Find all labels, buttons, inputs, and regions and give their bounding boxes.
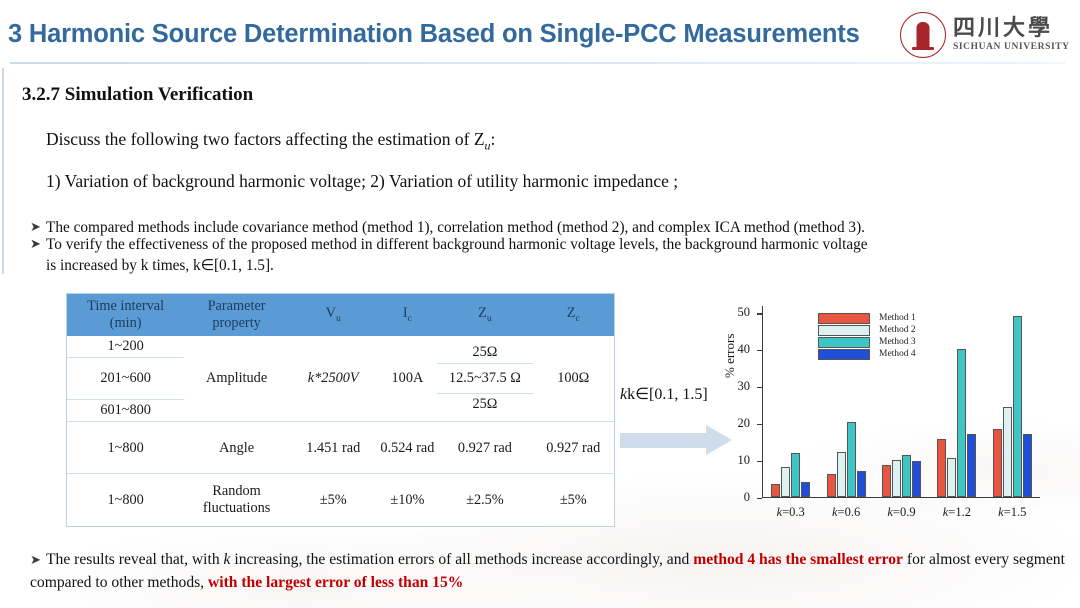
- bullet-2-text-line2: is increased by k times, k∈[0.1, 1.5].: [46, 256, 1065, 277]
- chart-y-tick-label: 50: [738, 305, 751, 320]
- bullet-1-text: The compared methods include covariance …: [46, 219, 865, 236]
- chart-y-tick: 40: [757, 350, 762, 351]
- chart-legend-item: Method 3: [818, 336, 916, 348]
- chart-bar: [1023, 434, 1032, 498]
- intro-text: Discuss the following two factors affect…: [46, 129, 485, 149]
- cell-property-angle: Angle: [184, 422, 289, 474]
- chart-legend-swatch: [818, 337, 870, 348]
- chart-y-tick: 50: [757, 313, 762, 314]
- chart-x-tick-label: k=0.6: [825, 505, 867, 520]
- conclusion-bullet: ➤The results reveal that, with k increas…: [30, 549, 1065, 594]
- chart-bar: [857, 471, 866, 497]
- th-ic: Ic: [378, 294, 438, 336]
- cell-time-intervals: 1~200 201~600 601~800: [67, 336, 184, 422]
- slide-canvas: 3 Harmonic Source Determination Based on…: [0, 0, 1080, 608]
- bullet-2-text: To verify the effectiveness of the propo…: [46, 236, 868, 253]
- chart-bar: [892, 460, 901, 497]
- chart-bar: [781, 467, 790, 497]
- chart-x-tick-label: k=1.5: [991, 505, 1033, 520]
- chart-legend-swatch: [818, 325, 870, 336]
- cell-ic-amplitude: 100A: [378, 336, 438, 422]
- table-row: 1~800 Random fluctuations ±5% ±10% ±2.5%…: [67, 474, 614, 526]
- cell-zu-angle: 0.927 rad: [437, 422, 532, 474]
- chart-bar: [837, 452, 846, 497]
- university-logo: 四川大學 SICHUAN UNIVERSITY: [900, 12, 1076, 58]
- zu-2: 12.5~37.5 Ω: [437, 364, 532, 394]
- chart-legend-swatch: [818, 313, 870, 324]
- chart-legend-label: Method 4: [879, 349, 916, 359]
- section-heading: 3.2.7 Simulation Verification: [22, 84, 253, 106]
- chart-bar: [912, 461, 921, 497]
- chart-y-tick-label: 40: [738, 342, 751, 357]
- chart-bar: [937, 439, 946, 497]
- chart-y-tick-label: 10: [738, 453, 751, 468]
- chart-y-tick: 10: [757, 461, 762, 462]
- cell-zc-amplitude: 100Ω: [533, 336, 614, 422]
- chart-legend-label: Method 3: [879, 337, 916, 347]
- chart-bar: [902, 455, 911, 497]
- table-row: 1~200 201~600 601~800 Amplitude k*2500V …: [67, 336, 614, 422]
- chart-bar-group: [991, 306, 1033, 497]
- cell-vu-random: ±5%: [289, 474, 378, 526]
- chart-bar: [801, 482, 810, 498]
- cell-zu-amplitude: 25Ω 12.5~37.5 Ω 25Ω: [437, 336, 532, 422]
- th-vu: Vu: [289, 294, 378, 336]
- page-title: 3 Harmonic Source Determination Based on…: [8, 20, 860, 49]
- chart-bar: [967, 434, 976, 497]
- th-zc: Zc: [533, 294, 614, 336]
- intro-paragraph: Discuss the following two factors affect…: [46, 129, 495, 154]
- zu-1: 25Ω: [437, 342, 532, 364]
- chart-legend-label: Method 2: [879, 325, 916, 335]
- time-3: 601~800: [67, 400, 184, 421]
- logo-text: 四川大學 SICHUAN UNIVERSITY: [953, 17, 1070, 53]
- bullet-arrow-icon: ➤: [30, 218, 46, 236]
- chart-y-tick-label: 30: [738, 379, 751, 394]
- chart-bar-group: [936, 306, 978, 497]
- time-1: 1~200: [67, 336, 184, 358]
- chart-bar: [993, 429, 1002, 497]
- bullet-item-2: ➤To verify the effectiveness of the prop…: [30, 235, 1065, 277]
- chart-legend-item: Method 4: [818, 348, 916, 360]
- bullet-arrow-icon: ➤: [30, 235, 46, 253]
- table-header-row: Time interval (min) Parameter property V…: [67, 294, 614, 336]
- cell-property-amplitude: Amplitude: [184, 336, 289, 422]
- cell-zc-angle: 0.927 rad: [533, 422, 614, 474]
- cell-property-random: Random fluctuations: [184, 474, 289, 526]
- flow-arrow-icon: [620, 425, 740, 455]
- chart-y-tick: 0: [757, 498, 762, 499]
- k-range-annotation: kk∈[0.1, 1.5]: [620, 384, 708, 404]
- chart-y-tick: 30: [757, 387, 762, 388]
- chart-bar-group: [770, 306, 812, 497]
- chart-x-tick-labels: k=0.3k=0.6k=0.9k=1.2k=1.5: [763, 505, 1040, 520]
- factors-paragraph: 1) Variation of background harmonic volt…: [46, 171, 678, 192]
- zu-3: 25Ω: [437, 394, 532, 415]
- conclusion-highlight-2: with the largest error of less than 15%: [208, 574, 463, 591]
- chart-bar: [882, 465, 891, 497]
- chart-bar: [1013, 316, 1022, 497]
- cell-zc-random: ±5%: [533, 474, 614, 526]
- k-range-text: k∈[0.1, 1.5]: [627, 386, 708, 403]
- chart-bar: [1003, 407, 1012, 497]
- logo-chinese-name: 四川大學: [953, 17, 1070, 39]
- cell-vu-amplitude: k*2500V: [289, 336, 378, 422]
- left-accent-line: [2, 68, 4, 274]
- chart-bar: [827, 474, 836, 497]
- chart-bar: [847, 422, 856, 497]
- cell-time-random: 1~800: [67, 474, 184, 526]
- chart-legend-item: Method 1: [818, 312, 916, 324]
- table-row: 1~800 Angle 1.451 rad 0.524 rad 0.927 ra…: [67, 422, 614, 474]
- cell-time-angle: 1~800: [67, 422, 184, 474]
- conclusion-part1: The results reveal that, with: [46, 551, 224, 568]
- bullet-arrow-icon: ➤: [30, 551, 46, 570]
- chart-legend-label: Method 1: [879, 313, 916, 323]
- th-time-interval: Time interval (min): [67, 294, 184, 336]
- time-2: 201~600: [67, 358, 184, 400]
- chart-legend-item: Method 2: [818, 324, 916, 336]
- cell-zu-random: ±2.5%: [437, 474, 532, 526]
- chart-y-axis-label: % errors: [722, 334, 738, 378]
- errors-bar-chart: % errors 01020304050 Method 1Method 2Met…: [726, 300, 1066, 532]
- chart-y-tick-label: 20: [738, 416, 751, 431]
- chart-x-tick-label: k=0.3: [770, 505, 812, 520]
- chart-x-tick-label: k=1.2: [936, 505, 978, 520]
- logo-english-name: SICHUAN UNIVERSITY: [953, 43, 1070, 53]
- slide-header: 3 Harmonic Source Determination Based on…: [0, 0, 1080, 66]
- cell-ic-angle: 0.524 rad: [378, 422, 438, 474]
- chart-bar: [957, 349, 966, 497]
- simulation-parameters-table: Time interval (min) Parameter property V…: [66, 293, 615, 527]
- chart-bar: [947, 458, 956, 497]
- university-seal-icon: [900, 12, 946, 58]
- arrow-shaft: [620, 433, 708, 448]
- chart-plot-area: 01020304050 Method 1Method 2Method 3Meth…: [762, 306, 1040, 498]
- chart-y-tick: 20: [757, 424, 762, 425]
- chart-bar: [771, 484, 780, 497]
- intro-tail: :: [491, 129, 496, 149]
- header-divider: [10, 62, 1065, 64]
- conclusion-highlight-1: method 4 has the smallest error: [693, 551, 903, 568]
- chart-legend: Method 1Method 2Method 3Method 4: [818, 312, 916, 360]
- cell-vu-angle: 1.451 rad: [289, 422, 378, 474]
- chart-x-tick-label: k=0.9: [880, 505, 922, 520]
- conclusion-part2: increasing, the estimation errors of all…: [230, 551, 693, 568]
- th-zu: Zu: [437, 294, 532, 336]
- th-parameter-property: Parameter property: [184, 294, 289, 336]
- chart-legend-swatch: [818, 349, 870, 360]
- cell-ic-random: ±10%: [378, 474, 438, 526]
- chart-bar: [791, 453, 800, 497]
- chart-y-tick-label: 0: [744, 490, 750, 505]
